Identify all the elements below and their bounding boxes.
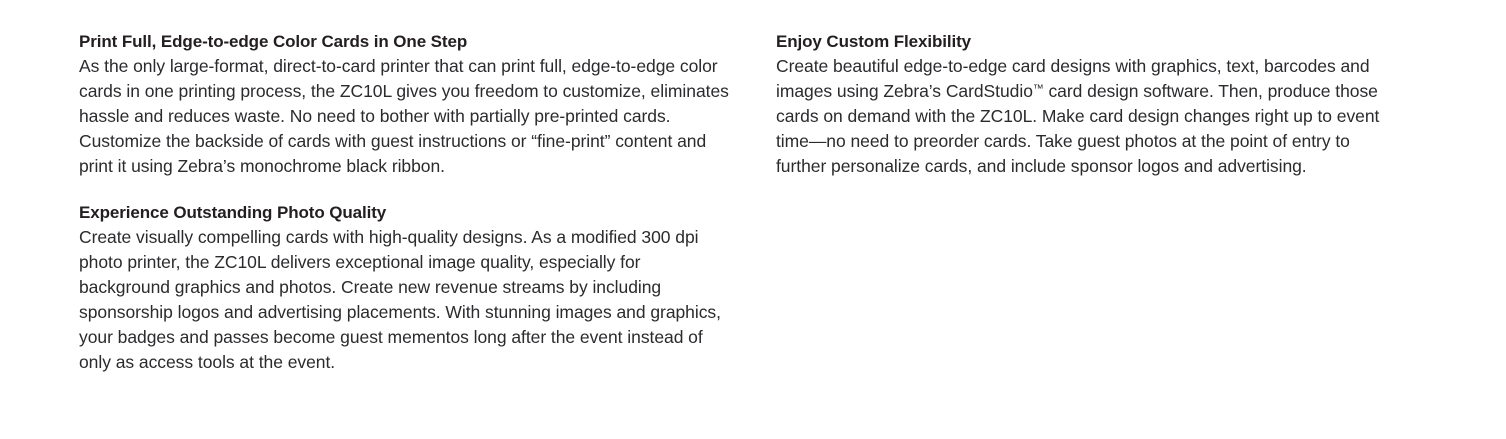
feature-body-print-full-edge-to-edge: As the only large-format, direct-to-card… bbox=[79, 54, 729, 179]
feature-body-custom-flexibility: Create beautiful edge-to-edge card desig… bbox=[776, 54, 1401, 179]
feature-block-custom-flexibility: Enjoy Custom Flexibility Create beautifu… bbox=[776, 29, 1401, 179]
feature-column-left: Print Full, Edge-to-edge Color Cards in … bbox=[79, 29, 729, 375]
feature-block-photo-quality: Experience Outstanding Photo Quality Cre… bbox=[79, 200, 729, 375]
marketing-feature-page: Print Full, Edge-to-edge Color Cards in … bbox=[0, 0, 1506, 439]
feature-block-print-full-edge-to-edge: Print Full, Edge-to-edge Color Cards in … bbox=[79, 29, 729, 179]
feature-columns: Print Full, Edge-to-edge Color Cards in … bbox=[79, 29, 1506, 375]
feature-heading-custom-flexibility: Enjoy Custom Flexibility bbox=[776, 29, 1401, 54]
trademark-icon: ™ bbox=[1033, 83, 1044, 95]
feature-column-right: Enjoy Custom Flexibility Create beautifu… bbox=[776, 29, 1401, 179]
feature-body-photo-quality: Create visually compelling cards with hi… bbox=[79, 225, 729, 375]
feature-heading-photo-quality: Experience Outstanding Photo Quality bbox=[79, 200, 729, 225]
feature-heading-print-full-edge-to-edge: Print Full, Edge-to-edge Color Cards in … bbox=[79, 29, 729, 54]
